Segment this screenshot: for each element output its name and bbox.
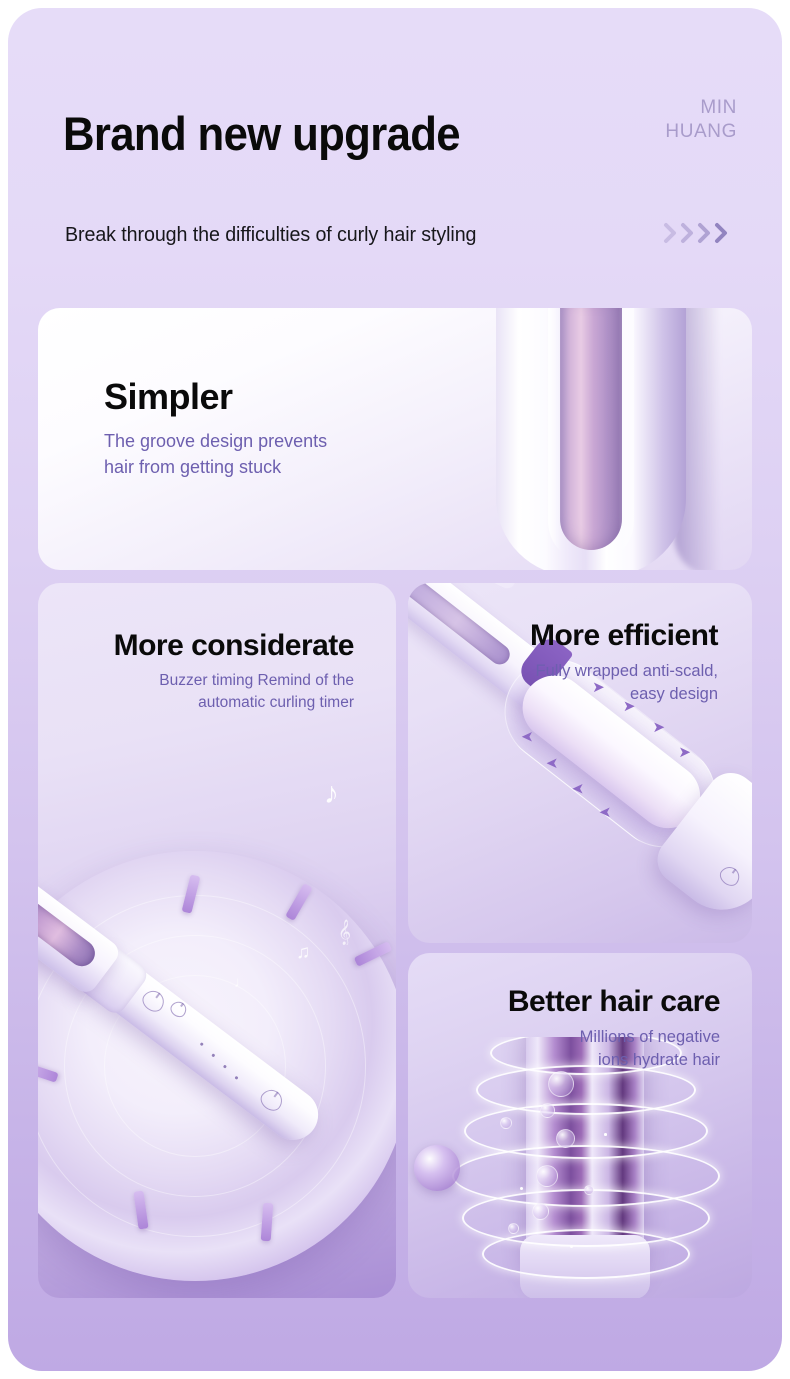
card-subtitle: Millions of negative ions hydrate hair xyxy=(408,1026,720,1073)
curling-barrel-closeup-image xyxy=(478,308,752,570)
sparkle xyxy=(520,1187,523,1190)
card-title: More considerate xyxy=(38,629,354,663)
feature-card-simpler[interactable]: Simpler The groove design prevents hair … xyxy=(38,308,752,570)
ion-bubble xyxy=(508,1223,519,1234)
airflow-arrow-icon: ➤ xyxy=(546,756,559,771)
brand-line-1: MIN xyxy=(617,96,737,120)
music-note-icon: ♪ xyxy=(324,779,339,809)
card-text-considerate: More considerate Buzzer timing Remind of… xyxy=(38,629,378,714)
ion-ring xyxy=(482,1229,690,1279)
card-text-simpler: Simpler The groove design prevents hair … xyxy=(104,376,327,480)
airflow-arrow-icon: ➤ xyxy=(572,781,585,796)
brand-mark: MIN HUANG xyxy=(617,96,737,145)
negative-ion-image xyxy=(408,1037,752,1298)
card-title: Simpler xyxy=(104,376,327,418)
card-subtitle: Fully wrapped anti-scald, easy design xyxy=(408,660,718,707)
ion-bubble xyxy=(556,1129,575,1148)
ion-bubble xyxy=(548,1071,574,1097)
card-text-efficient: More efficient Fully wrapped anti-scald,… xyxy=(408,619,738,707)
feature-card-considerate[interactable]: ♪ ♫ ♩ 𝄞 More considerate Buzzer timing R… xyxy=(38,583,396,1298)
feature-card-haircare[interactable]: Better hair care Millions of negative io… xyxy=(408,953,752,1298)
chevron-right-icon xyxy=(663,222,679,244)
ion-bubble-large xyxy=(414,1145,460,1191)
ion-bubble xyxy=(500,1117,512,1129)
airflow-arrow-icon: ➤ xyxy=(653,720,666,735)
card-title: Better hair care xyxy=(408,985,720,1019)
chevron-right-icon xyxy=(697,222,713,244)
airflow-arrow-icon: ➤ xyxy=(678,745,691,760)
card-title: More efficient xyxy=(408,619,718,653)
ion-bubble xyxy=(540,1103,555,1118)
brand-line-2: HUANG xyxy=(617,120,737,144)
card-subtitle: The groove design prevents hair from get… xyxy=(104,429,327,480)
page-title: Brand new upgrade xyxy=(63,106,460,161)
music-note-icon: ♩ xyxy=(234,975,249,990)
chevron-right-icon xyxy=(714,222,730,244)
airflow-arrow-icon: ➤ xyxy=(599,805,612,820)
feature-card-efficient[interactable]: ➤ ➤ ➤ ➤ ➤ ➤ ➤ ➤ More efficient Fully wra… xyxy=(408,583,752,943)
music-note-icon: ♫ xyxy=(296,943,310,962)
card-subtitle: Buzzer timing Remind of the automatic cu… xyxy=(38,670,354,714)
ion-bubble xyxy=(532,1203,549,1220)
ion-bubble xyxy=(536,1165,558,1187)
header: MIN HUANG Brand new upgrade Break throug… xyxy=(8,8,782,288)
barrel-glass-highlight xyxy=(548,308,634,564)
sparkle xyxy=(604,1133,607,1136)
heart-logo-icon xyxy=(717,863,744,889)
airflow-arrow-icon: ➤ xyxy=(521,729,534,744)
chevron-right-icon xyxy=(680,222,696,244)
chevron-arrows-group xyxy=(663,222,730,244)
music-note-icon: 𝄞 xyxy=(338,921,351,943)
page-subtitle: Break through the difficulties of curly … xyxy=(65,223,476,247)
infographic-panel: MIN HUANG Brand new upgrade Break throug… xyxy=(8,8,782,1371)
ion-bubble xyxy=(584,1185,594,1195)
card-text-haircare: Better hair care Millions of negative io… xyxy=(408,985,738,1073)
sparkle xyxy=(570,1245,573,1248)
